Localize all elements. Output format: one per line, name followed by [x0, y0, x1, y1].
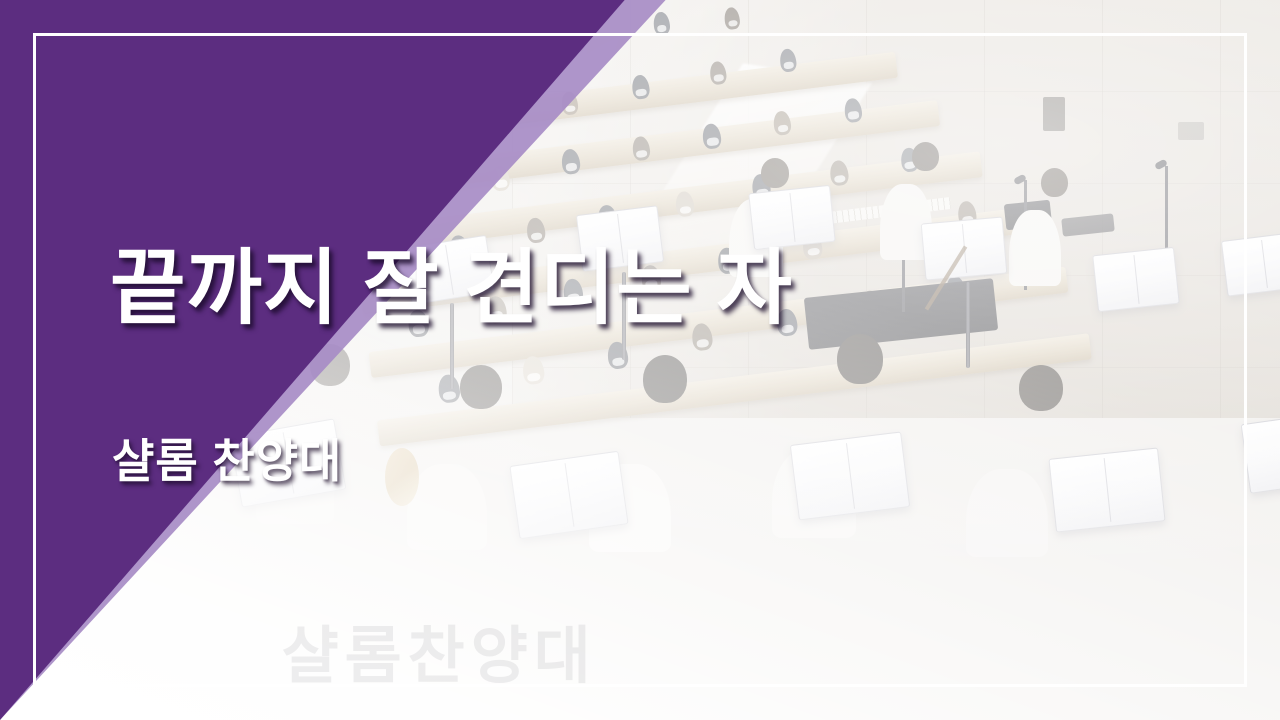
music-stand-pole	[966, 282, 970, 368]
musician-head	[1019, 365, 1063, 411]
brass-instrument	[385, 448, 419, 506]
wall-panel-accent	[1178, 122, 1204, 140]
musician-head	[643, 355, 687, 403]
music-stand	[1092, 247, 1180, 312]
congregant	[843, 97, 863, 123]
musician-head	[460, 365, 502, 409]
subtitle: 샬롬 찬양대	[112, 436, 342, 487]
music-stand	[789, 431, 909, 520]
slide-canvas: 샬롬찬양대 끝까지 잘 견디는 자 샬롬 찬양대	[0, 0, 1280, 720]
music-stand	[748, 185, 836, 250]
choir-member-head	[761, 158, 789, 188]
music-stand	[1241, 410, 1280, 494]
choir-member-robe	[1009, 210, 1061, 286]
page-title: 끝까지 잘 견디는 자	[110, 246, 793, 333]
music-stand	[1221, 231, 1280, 296]
title-block: 끝까지 잘 견디는 자	[110, 246, 793, 333]
choir-member-head	[912, 142, 939, 171]
music-stand	[509, 451, 628, 540]
musician-shoulders	[966, 469, 1048, 557]
congregant	[773, 110, 793, 136]
musician-head	[837, 334, 883, 384]
choir-member-head	[1041, 168, 1068, 197]
music-stand	[1048, 448, 1165, 533]
